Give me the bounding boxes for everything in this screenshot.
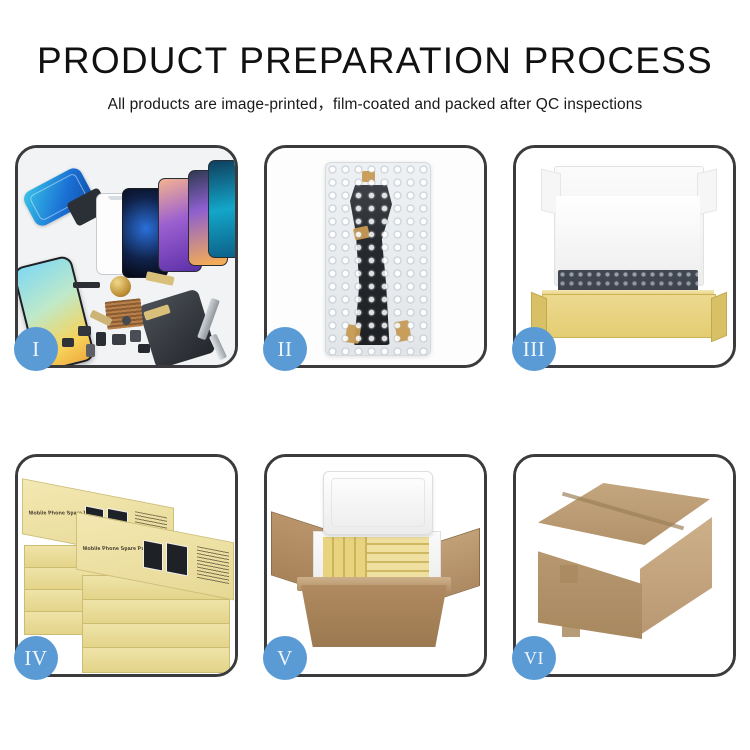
box-spec-lines-front xyxy=(197,546,229,584)
box-art-swatch-4 xyxy=(166,542,188,576)
yellow-boxes-row-2 xyxy=(367,537,429,579)
step-badge-4: IV xyxy=(14,636,58,680)
small-part-8 xyxy=(122,316,131,325)
process-step-panel-6[interactable]: VI xyxy=(513,454,736,677)
tape-piece-3 xyxy=(345,324,361,344)
process-step-panel-2[interactable]: II xyxy=(264,145,487,368)
stacked-box-r2 xyxy=(82,599,230,625)
step-badge-5: V xyxy=(263,636,307,680)
small-part-2 xyxy=(96,332,106,346)
process-step-panel-1[interactable]: I xyxy=(15,145,238,368)
box-art-swatch-3 xyxy=(143,540,163,572)
step-badge-6: VI xyxy=(512,636,556,680)
page-title: PRODUCT PREPARATION PROCESS xyxy=(0,42,750,81)
small-part-3 xyxy=(112,334,126,345)
step-badge-2: II xyxy=(263,327,307,371)
stacked-box-r3 xyxy=(82,623,230,649)
carton-tape-2 xyxy=(562,623,580,637)
process-step-grid: I II III xyxy=(15,145,737,677)
wrapped-phone-part xyxy=(350,185,392,345)
page-subtitle: All products are image-printed，film-coat… xyxy=(0,92,750,114)
step-badge-3: III xyxy=(512,327,556,371)
carton-front-panel xyxy=(301,585,447,647)
process-step-panel-3[interactable]: III xyxy=(513,145,736,368)
vibration-motor-component xyxy=(110,276,131,297)
small-part-4 xyxy=(130,330,141,342)
tape-piece-4 xyxy=(394,320,411,342)
flex-cable-1 xyxy=(145,271,174,286)
chip-grid-component xyxy=(105,298,144,330)
phone-display-teal xyxy=(208,160,235,258)
bubble-wrap-bag xyxy=(325,162,431,356)
carton-tape-1 xyxy=(560,565,578,583)
process-step-panel-5[interactable]: V xyxy=(264,454,487,677)
small-part-6 xyxy=(62,338,74,347)
foam-lid xyxy=(323,471,433,535)
step-badge-1: I xyxy=(14,327,58,371)
foam-sheet xyxy=(556,196,700,272)
carton-front-face xyxy=(538,537,642,639)
small-part-7 xyxy=(138,344,150,353)
process-step-panel-4[interactable]: Mobile Phone Spare Parts Mobile Phone Sp… xyxy=(15,454,238,677)
tape-piece-1 xyxy=(362,171,375,182)
box-stack: Mobile Phone Spare Parts Mobile Phone Sp… xyxy=(20,471,235,667)
box-base-yellow xyxy=(542,294,716,338)
stacked-box-r4 xyxy=(82,647,230,673)
speaker-strip-component xyxy=(73,282,100,288)
page-header: PRODUCT PREPARATION PROCESS All products… xyxy=(0,0,750,114)
small-part-5 xyxy=(86,344,95,357)
box-label-front: Mobile Phone Spare Parts xyxy=(82,546,152,552)
small-part-1 xyxy=(78,326,91,336)
